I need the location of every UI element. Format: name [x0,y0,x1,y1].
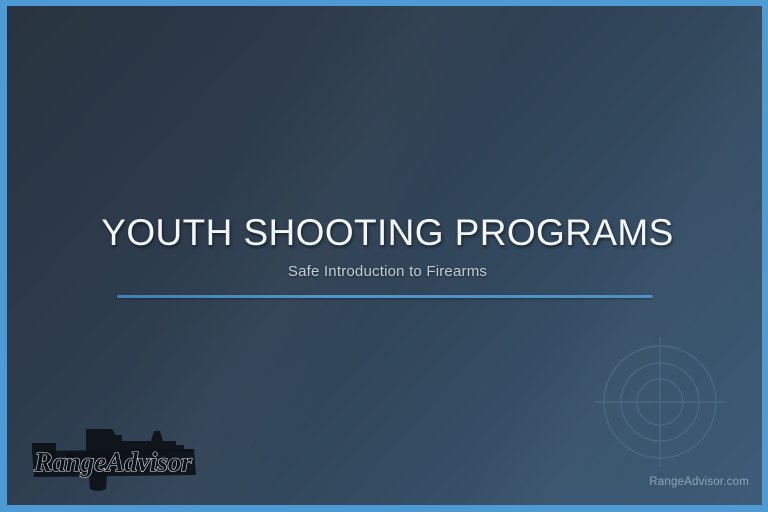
page-title: YOUTH SHOOTING PROGRAMS [7,213,762,253]
page-subtitle: Safe Introduction to Firearms [7,263,762,280]
footer-website: RangeAdvisor.com [649,476,749,488]
title-divider [117,295,653,298]
slide-canvas: YOUTH SHOOTING PROGRAMS Safe Introductio… [7,6,762,505]
rifle-silhouette-icon: RangeAdvisor [26,423,202,495]
title-block: YOUTH SHOOTING PROGRAMS Safe Introductio… [7,213,762,280]
presentation-slide: YOUTH SHOOTING PROGRAMS Safe Introductio… [0,0,768,512]
logo-wordmark: RangeAdvisor [33,447,192,477]
crosshair-target-icon [593,335,727,469]
